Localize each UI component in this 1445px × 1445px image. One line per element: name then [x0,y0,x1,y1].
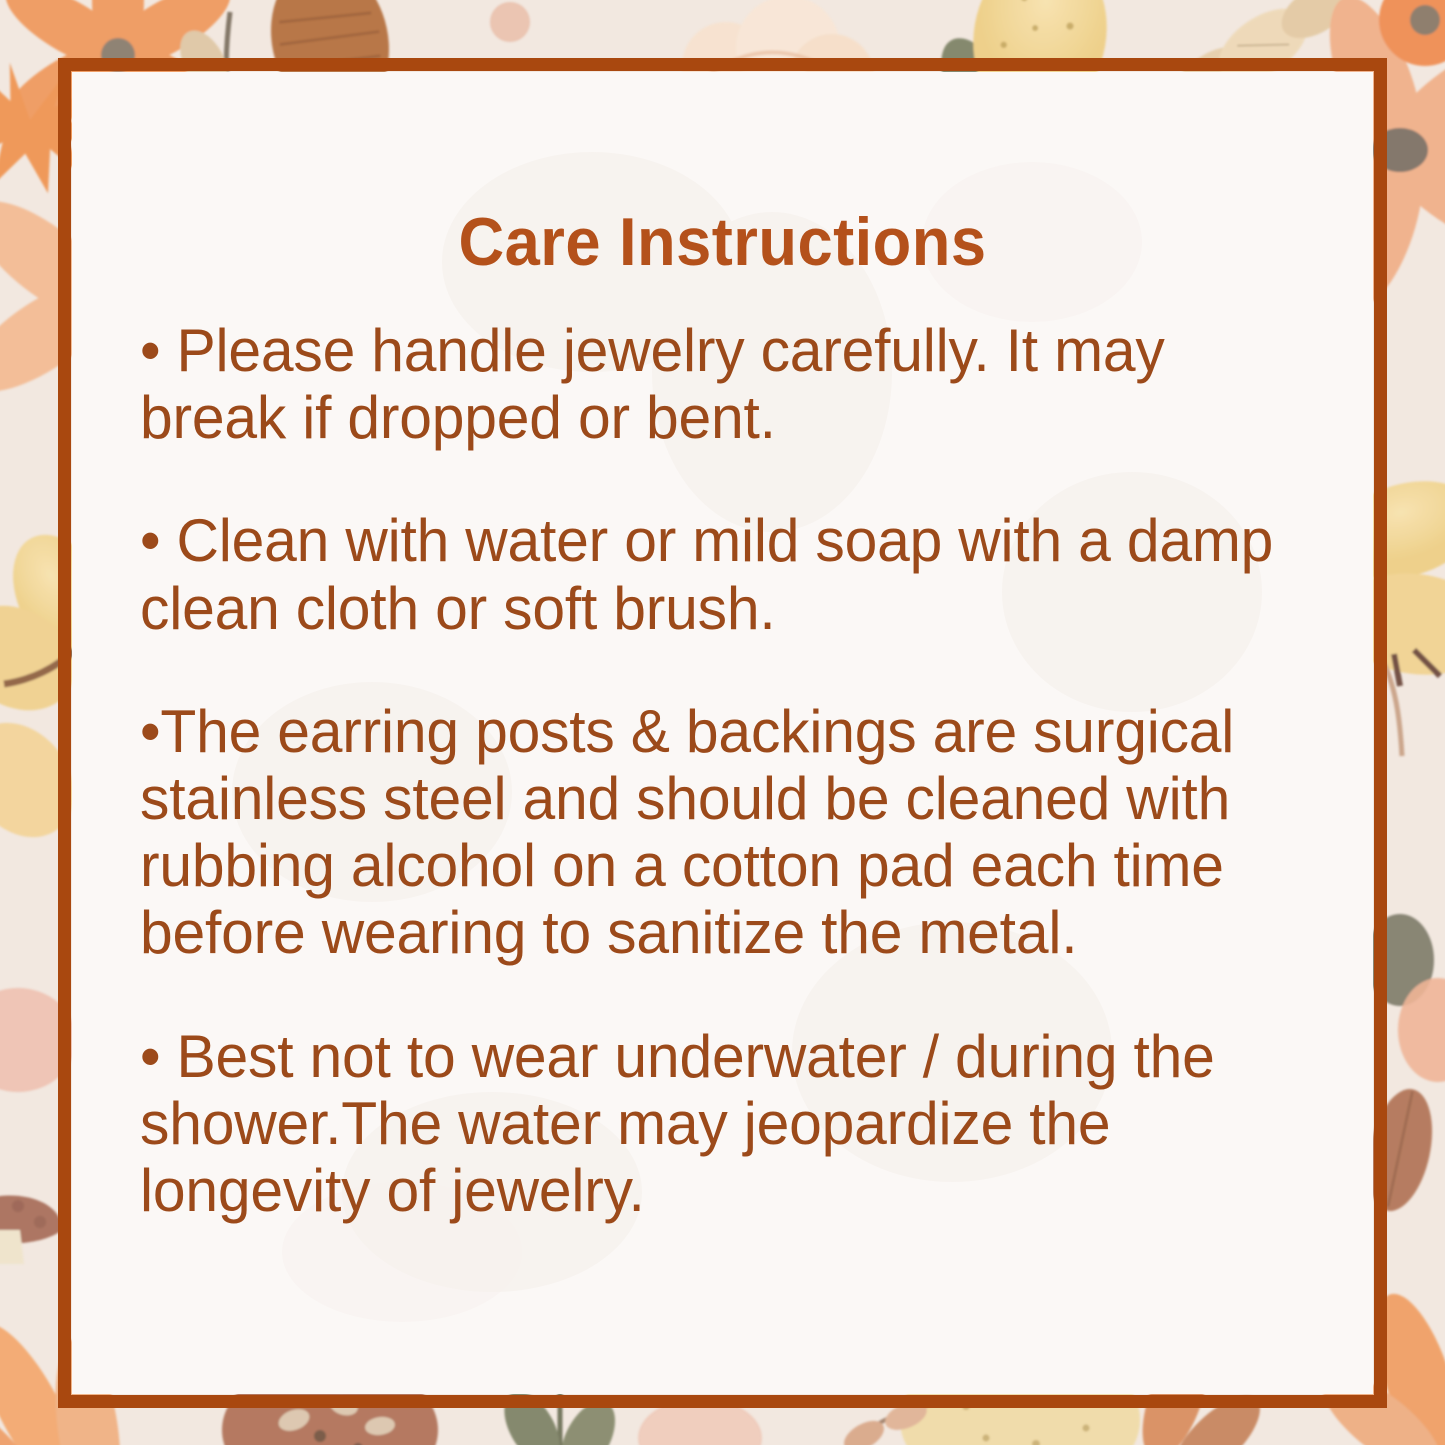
list-item: • Please handle jewelry carefully. It ma… [140,317,1296,451]
card-content: Care Instructions • Please handle jewelr… [72,72,1373,1394]
care-instructions-list: • Please handle jewelry carefully. It ma… [140,317,1320,1224]
list-item: •The earring posts & backings are surgic… [140,698,1296,967]
list-item: • Clean with water or mild soap with a d… [140,507,1296,641]
list-item: • Best not to wear underwater / during t… [140,1023,1296,1225]
page-title: Care Instructions [118,208,1328,276]
care-instructions-card: Care Instructions • Please handle jewelr… [0,0,1445,1445]
